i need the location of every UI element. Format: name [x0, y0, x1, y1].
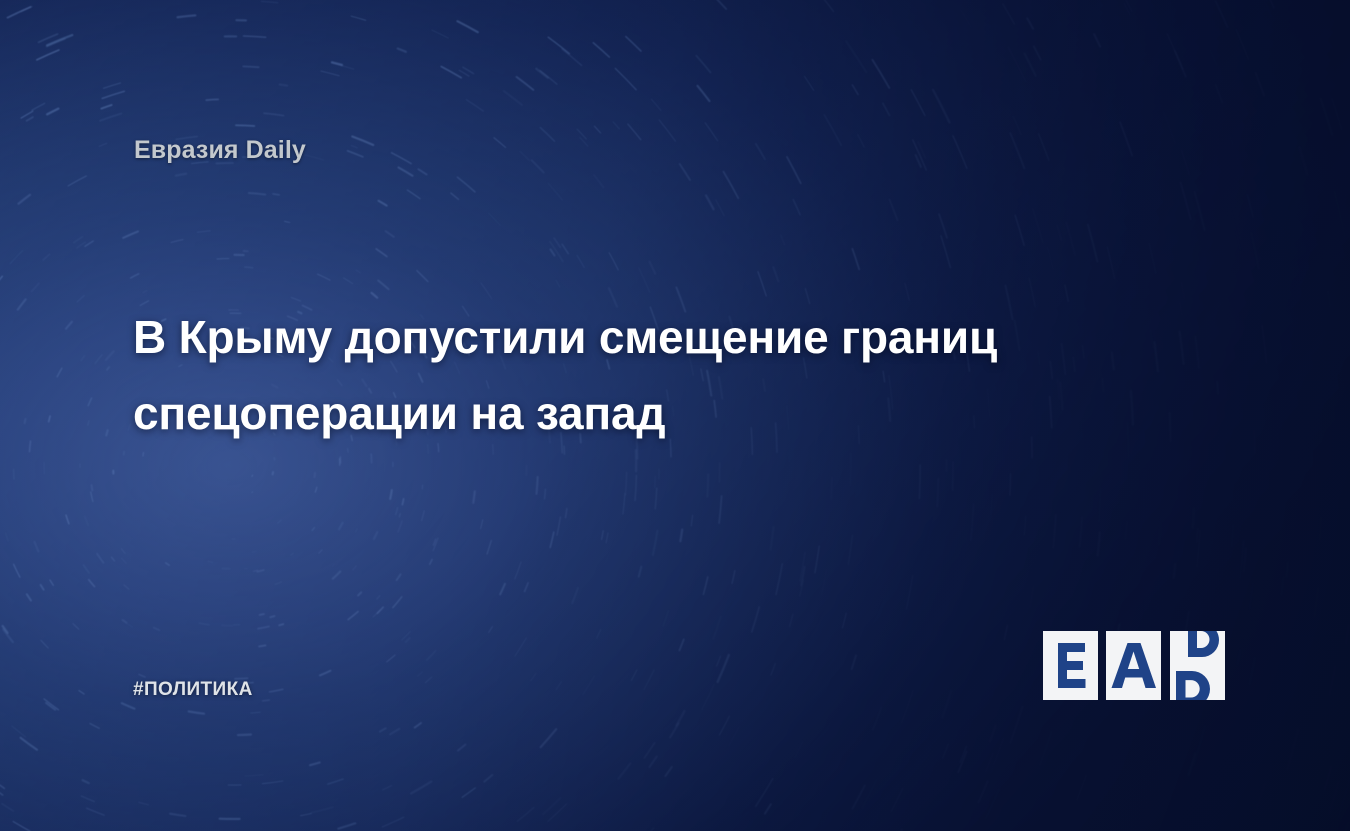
headline-text: В Крыму допустили смещение границ спецоп…: [133, 299, 1208, 451]
logo-tile-a: [1106, 631, 1161, 700]
logo-glyph-d-stem-lower: [1176, 671, 1186, 700]
eadaily-logo: [1043, 631, 1225, 700]
card-content: Евразия Daily В Крыму допустили смещение…: [0, 0, 1350, 831]
logo-glyph-d-stem-upper: [1188, 631, 1197, 657]
category-hashtag: #ПОЛИТИКА: [133, 679, 253, 701]
news-card: Евразия Daily В Крыму допустили смещение…: [0, 0, 1350, 831]
brand-title: Евразия Daily: [134, 136, 306, 165]
logo-glyph-e: [1058, 643, 1086, 688]
